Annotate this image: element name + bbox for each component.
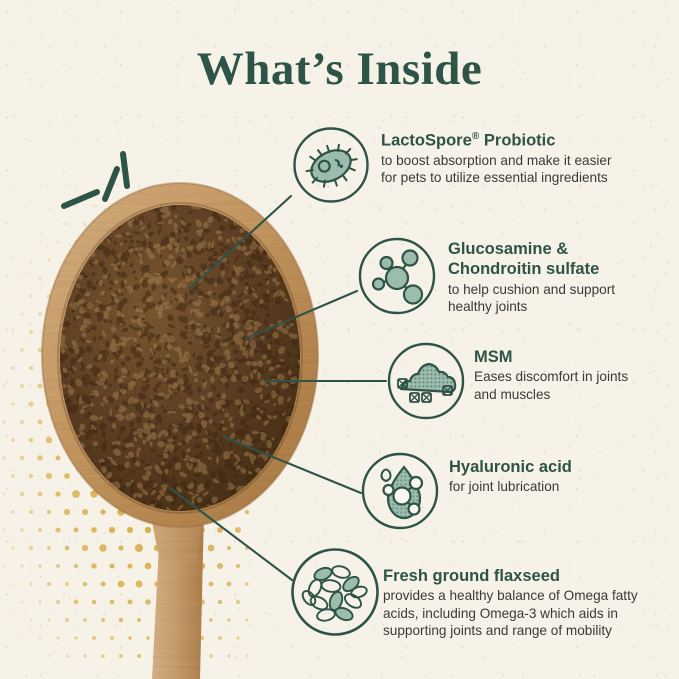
- callout-body: to help cushion and support healthy join…: [448, 281, 658, 316]
- callout-body: provides a healthy balance of Omega fatt…: [383, 587, 663, 639]
- callout-title-line2: Chondroitin sulfate: [448, 260, 658, 278]
- connector-line-5: [170, 488, 292, 580]
- connector-line-4: [224, 437, 361, 493]
- callout-title: Hyaluronic acid: [449, 458, 659, 476]
- callout-title: MSM: [474, 348, 654, 366]
- callout-body: to boost absorption and make it easier f…: [381, 152, 613, 187]
- sparkle-marks: [64, 154, 127, 206]
- page-title: What’s Inside: [0, 42, 679, 96]
- callout-title: Fresh ground flaxseed: [383, 567, 663, 585]
- infographic-canvas: What’s Inside: [0, 0, 679, 679]
- gold-dot-pattern: [0, 200, 250, 670]
- callout-title-line1: Glucosamine &: [448, 240, 658, 258]
- powder-mound-crystals-icon: [386, 341, 466, 421]
- molecule-icon: [357, 236, 437, 316]
- flax-seeds-icon: [289, 546, 381, 638]
- probiotic-bacteria-icon: [292, 126, 370, 204]
- callout-body: Eases discomfort in joints and muscles: [474, 368, 654, 403]
- connector-line-1: [190, 196, 291, 288]
- connector-line-2: [247, 291, 357, 338]
- callout-body: for joint lubrication: [449, 478, 659, 495]
- callout-title: LactoSpore® Probiotic: [381, 131, 613, 150]
- water-droplet-molecule-icon: [360, 451, 440, 531]
